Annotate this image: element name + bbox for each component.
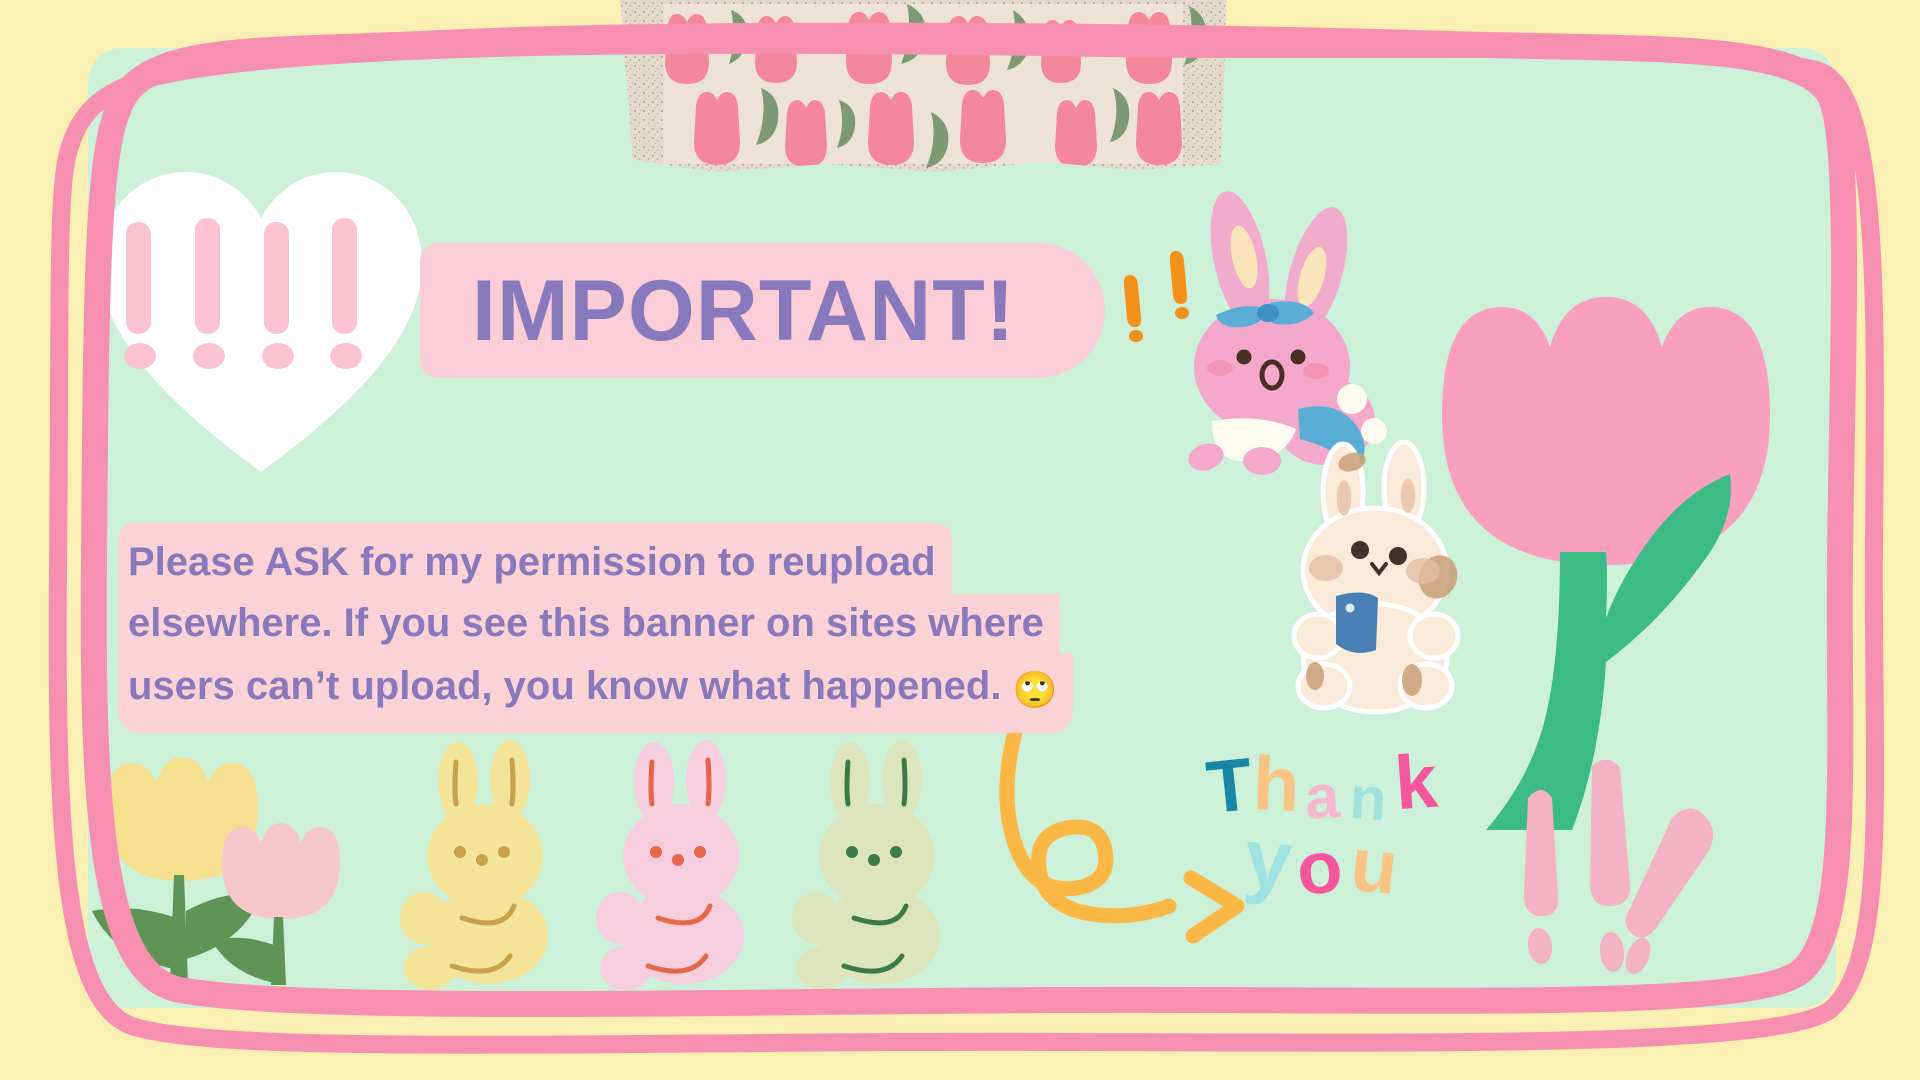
- pink-gummy-bunny: [596, 740, 744, 990]
- message-block: Please ASK for my permission to reupload…: [118, 523, 1118, 733]
- ty-letter-o: o: [1294, 830, 1344, 907]
- ty-letter-k: k: [1392, 744, 1439, 823]
- rolling-eyes-emoji: 🙄: [1013, 669, 1058, 710]
- page-title: IMPORTANT!: [472, 268, 1015, 354]
- ty-letter-a: a: [1303, 766, 1341, 830]
- thank-you-lettering: T h a n k y o u: [1205, 745, 1495, 925]
- important-banner: IMPORTANT!: [420, 243, 1105, 378]
- large-pink-tulip: [1410, 230, 1830, 830]
- pink-exclamation-marks: [1500, 760, 1800, 980]
- banner-canvas: IMPORTANT!: [0, 0, 1920, 1080]
- washi-tape-tulips: [615, 0, 1235, 182]
- yellow-gummy-bunny: [400, 740, 548, 990]
- ty-letter-n: n: [1348, 768, 1389, 830]
- pink-bunny-with-blue-bow: [1120, 185, 1410, 475]
- green-gummy-bunny: [792, 740, 940, 990]
- small-tulips: [88, 745, 348, 985]
- ty-letter-y: y: [1241, 815, 1295, 903]
- message-line-2: elsewhere. If you see this banner on sit…: [118, 594, 1060, 653]
- heart-with-exclamations: [96, 160, 426, 480]
- ty-letter-u: u: [1347, 827, 1401, 907]
- message-line-3: users can’t upload, you know what happen…: [118, 653, 1073, 733]
- message-line-1: Please ASK for my permission to reupload: [118, 523, 952, 594]
- message-line-3-text: users can’t upload, you know what happen…: [128, 664, 1001, 708]
